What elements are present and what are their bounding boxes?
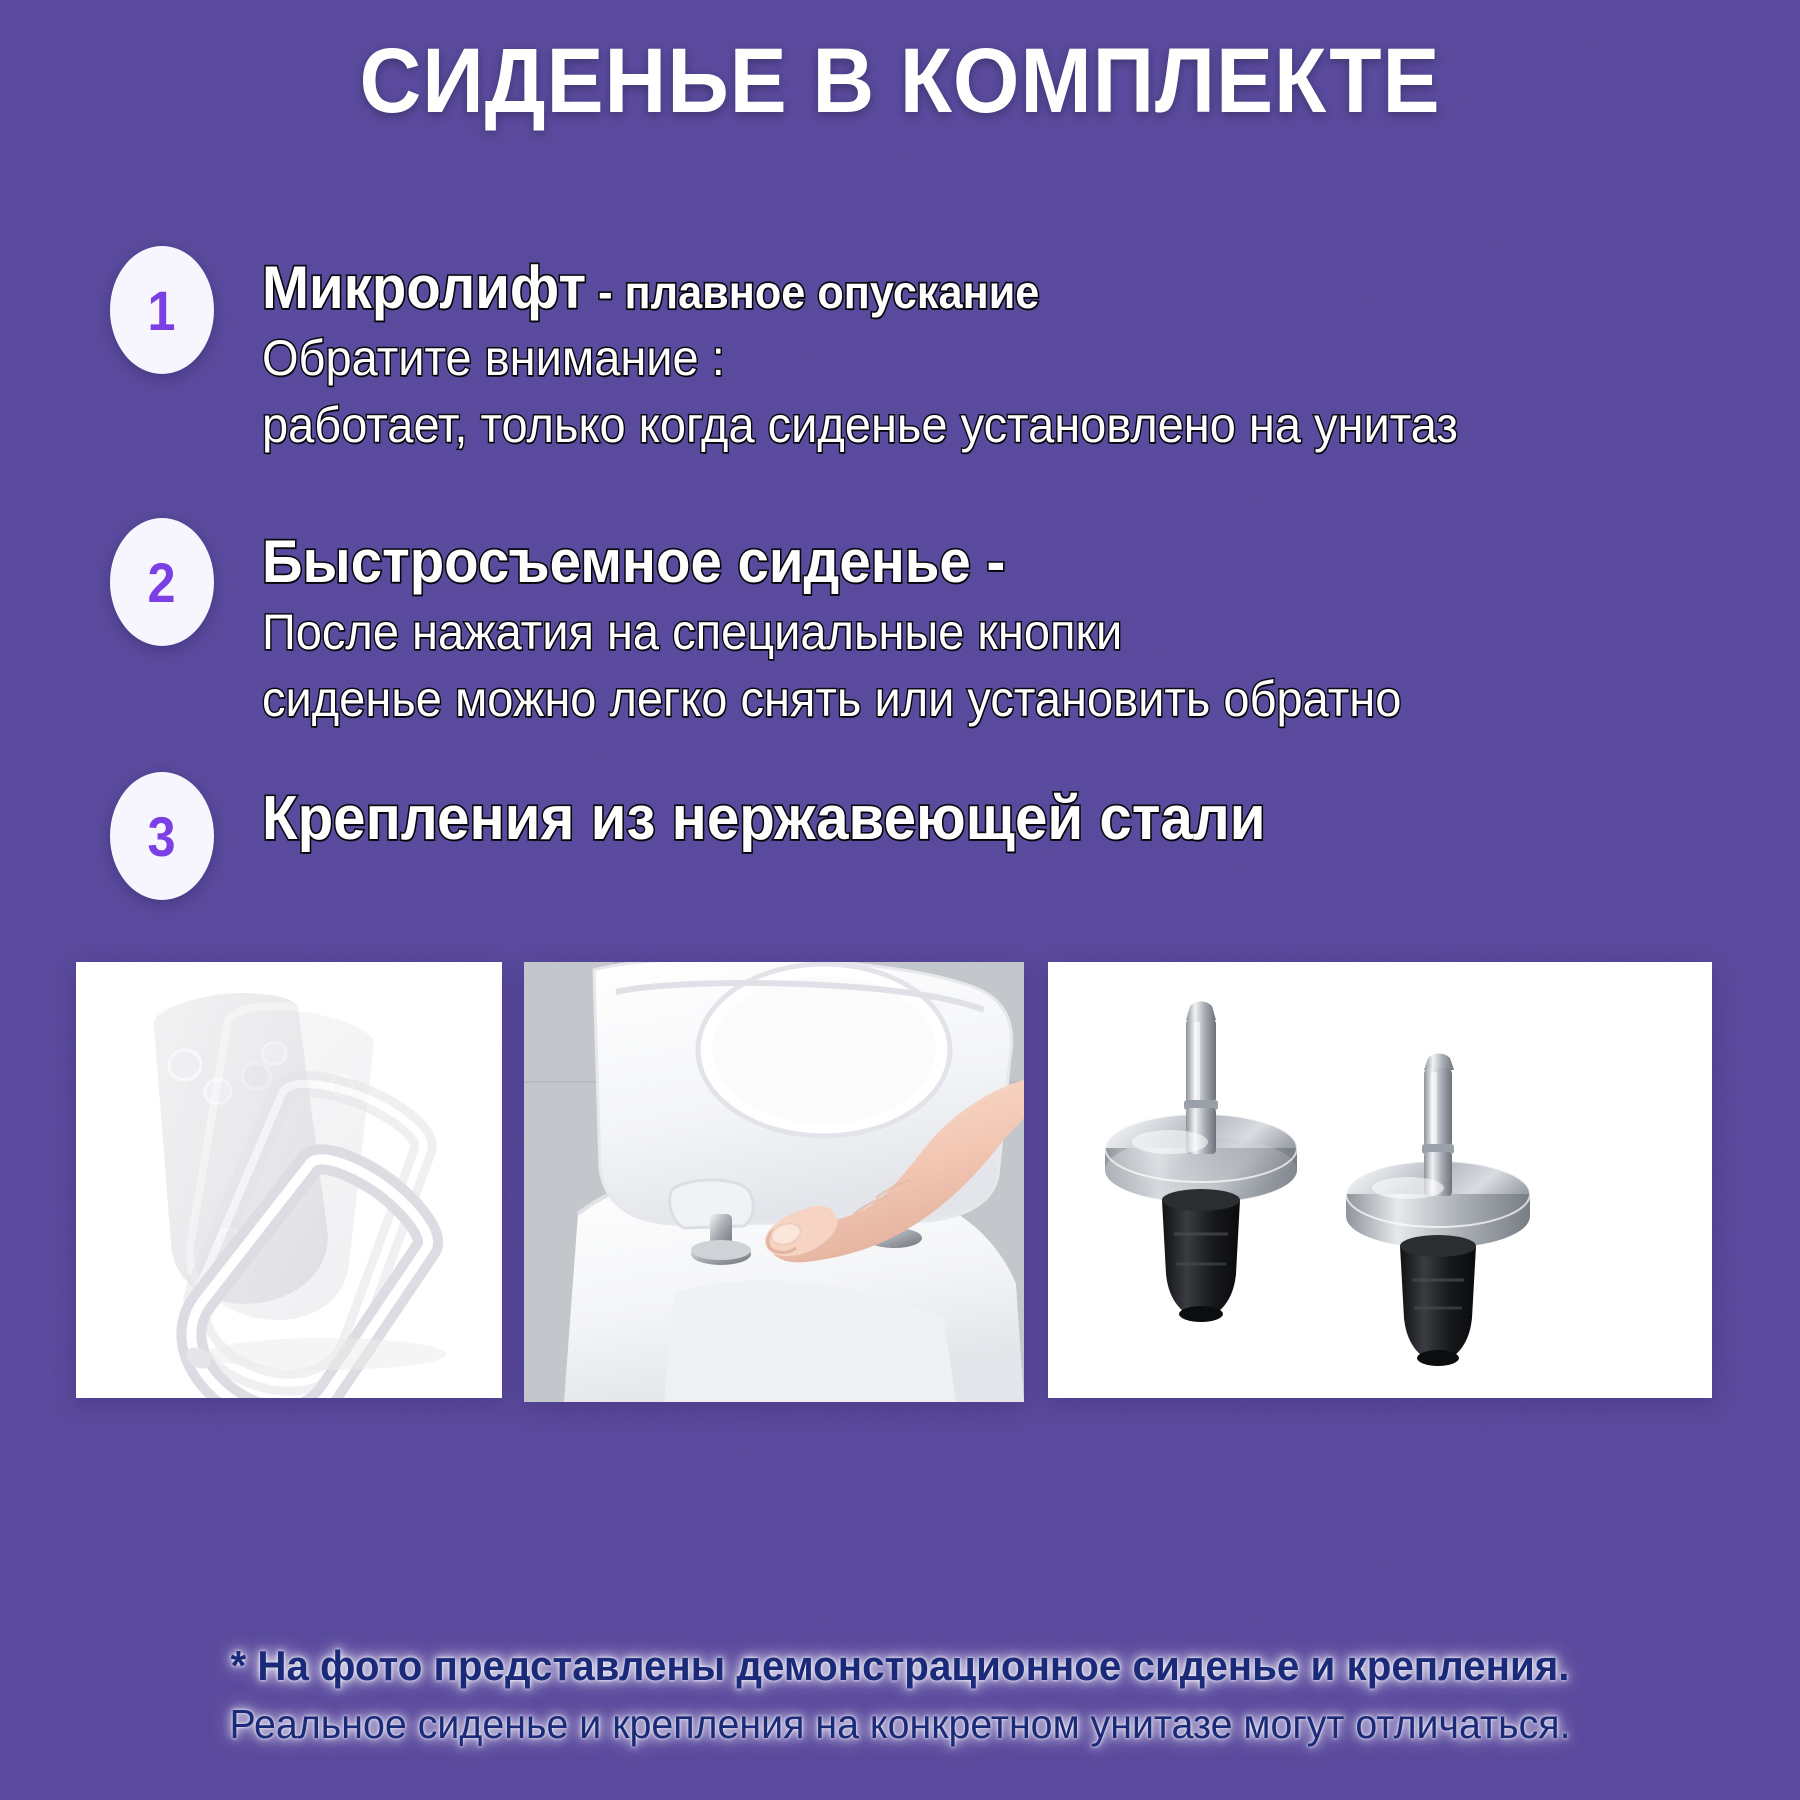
feature-number-badge-2: 2 <box>110 518 214 646</box>
photo-stainless-fixings <box>1048 962 1712 1398</box>
feature-number-badge-1: 1 <box>110 246 214 374</box>
photo-soft-close-seat <box>76 962 502 1398</box>
feature-title-rest-1: - плавное опускание <box>586 266 1039 318</box>
fixings-illustration <box>1048 962 1712 1398</box>
feature-line-1-2: работает, только когда сиденье установле… <box>262 395 1672 456</box>
infographic-poster: СИДЕНЬЕ В КОМПЛЕКТЕ 1 Микролифт - плавно… <box>0 0 1800 1800</box>
disclaimer: * На фото представлены демонстрационное … <box>36 1640 1764 1751</box>
disclaimer-line-2: Реальное сиденье и крепления на конкретн… <box>36 1699 1764 1751</box>
feature-line-1-1: Обратите внимание : <box>262 328 1672 389</box>
seat-positions-illustration <box>76 962 502 1398</box>
hand-press-button-illustration <box>524 962 1024 1402</box>
feature-number-badge-3: 3 <box>110 772 214 900</box>
disclaimer-line-1: * На фото представлены демонстрационное … <box>36 1640 1764 1693</box>
feature-text-1: Микролифт - плавное опускание Обратите в… <box>262 254 1762 456</box>
feature-text-2: Быстросъемное сиденье - После нажатия на… <box>262 528 1762 730</box>
feature-line-2-1: После нажатия на специальные кнопки <box>262 602 1672 663</box>
feature-number-3: 3 <box>148 804 176 869</box>
photo-quick-release-button <box>524 962 1024 1402</box>
page-title: СИДЕНЬЕ В КОМПЛЕКТЕ <box>63 34 1737 130</box>
feature-number-1: 1 <box>148 278 176 343</box>
feature-title-3: Крепления из нержавеющей стали <box>262 784 1672 855</box>
feature-title-1: Микролифт - плавное опускание <box>262 254 1672 322</box>
feature-line-2-2: сиденье можно легко снять или установить… <box>262 669 1672 730</box>
feature-title-strong-1: Микролифт <box>262 254 586 321</box>
photo-gallery <box>0 962 1800 1402</box>
feature-text-3: Крепления из нержавеющей стали <box>262 784 1762 855</box>
feature-number-2: 2 <box>148 550 176 615</box>
feature-title-strong-2: Быстросъемное сиденье - <box>262 528 1005 595</box>
feature-title-2: Быстросъемное сиденье - <box>262 528 1672 596</box>
